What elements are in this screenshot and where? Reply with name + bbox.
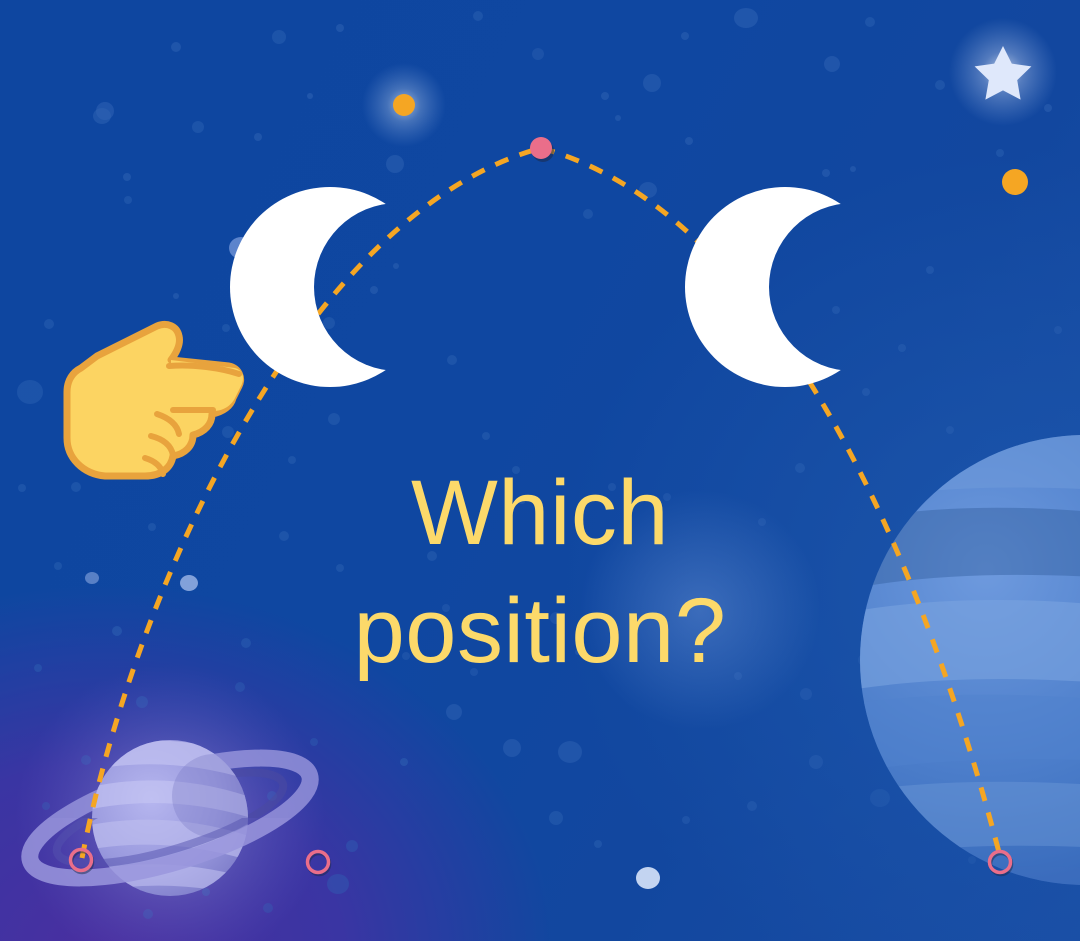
pointing-right-hand-icon[interactable] <box>53 318 249 483</box>
hand-shape <box>67 324 243 476</box>
orange-dot-right <box>1002 169 1028 195</box>
space-illustration-canvas: Which position? <box>0 0 1080 941</box>
glowing-star-icon <box>949 18 1057 126</box>
glowing-orange-dot-top <box>362 63 446 147</box>
